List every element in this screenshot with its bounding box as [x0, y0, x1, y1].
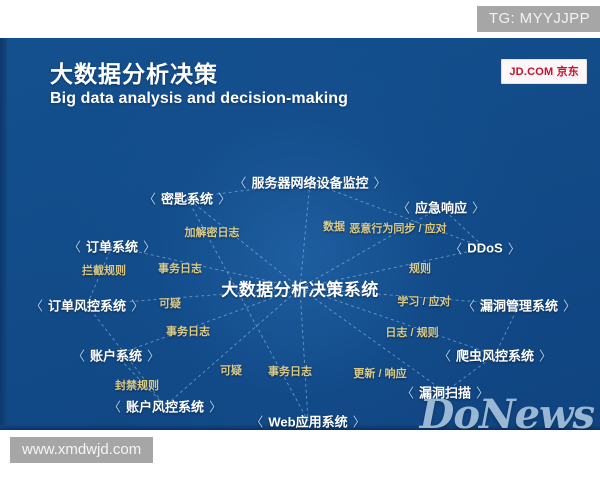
node-bracket-right-icon: 〉 [218, 189, 231, 208]
diagram-node-label: 大数据分析决策系统 [221, 276, 379, 301]
diagram-node-label: DDoS [467, 241, 502, 256]
diagram-node-vulnscan[interactable]: 〈漏洞扫描〉 [401, 383, 489, 402]
screenshot-root: TG: MYYJJPP 大数据分析决策 Big data analysis an… [0, 0, 600, 480]
node-bracket-right-icon: 〉 [143, 237, 156, 256]
diagram-edge-label: 加解密日志 [185, 224, 240, 240]
node-bracket-left-icon: 〈 [68, 237, 81, 256]
slide-canvas: 大数据分析决策 Big data analysis and decision-m… [0, 38, 600, 430]
diagram-node-ddos[interactable]: 〈DDoS〉 [449, 239, 520, 258]
node-bracket-right-icon: 〉 [353, 412, 366, 431]
diagram-node-label: 漏洞扫描 [419, 383, 471, 402]
diagram-node-label: 密匙系统 [161, 189, 213, 208]
diagram-edge-label: 更新 / 响应 [353, 365, 406, 381]
node-bracket-left-icon: 〈 [250, 412, 263, 431]
diagram-edge-label: 事务日志 [166, 323, 210, 339]
diagram-edge-label: 事务日志 [268, 363, 312, 379]
diagram-edge [165, 288, 300, 406]
telegram-watermark-badge: TG: MYYJJPP [477, 6, 600, 32]
diagram-edge-label: 可疑 [220, 362, 242, 378]
diagram-node-order[interactable]: 〈订单系统〉 [68, 237, 156, 256]
source-url-watermark: www.xmdwjd.com [10, 437, 153, 463]
diagram-edge [300, 182, 310, 288]
node-bracket-right-icon: 〉 [131, 296, 144, 315]
node-bracket-left-icon: 〈 [438, 346, 451, 365]
diagram-node-account[interactable]: 〈账户系统〉 [72, 346, 160, 365]
node-bracket-right-icon: 〉 [563, 296, 576, 315]
diagram-edge-label: 事务日志 [158, 260, 202, 276]
diagram-edge-label: 学习 / 应对 [397, 293, 450, 309]
node-bracket-right-icon: 〉 [147, 346, 160, 365]
diagram-node-label: 账户风控系统 [126, 397, 204, 416]
diagram-node-label: Web应用系统 [268, 412, 347, 431]
diagram-edge [300, 288, 308, 421]
node-bracket-left-icon: 〈 [462, 296, 475, 315]
diagram-node-label: 漏洞管理系统 [480, 296, 558, 315]
node-bracket-left-icon: 〈 [108, 397, 121, 416]
diagram-node-accrc[interactable]: 〈账户风控系统〉 [108, 397, 222, 416]
node-bracket-right-icon: 〉 [209, 397, 222, 416]
diagram-node-label: 账户系统 [90, 346, 142, 365]
diagram-edge [187, 198, 300, 288]
diagram-node-vulnmgr[interactable]: 〈漏洞管理系统〉 [462, 296, 576, 315]
node-bracket-left-icon: 〈 [233, 173, 246, 192]
diagram-edge-label: 恶意行为同步 / 应对 [349, 220, 446, 236]
diagram-node-web[interactable]: 〈Web应用系统〉 [250, 412, 365, 431]
node-bracket-right-icon: 〉 [508, 239, 521, 258]
diagram-node-label: 服务器网络设备监控 [251, 173, 368, 192]
diagram-node-crawler[interactable]: 〈爬虫风控系统〉 [438, 346, 552, 365]
diagram-node-label: 爬虫风控系统 [456, 346, 534, 365]
diagram-node-orderrc[interactable]: 〈订单风控系统〉 [30, 296, 144, 315]
node-bracket-left-icon: 〈 [449, 239, 462, 258]
diagram-node-label: 订单系统 [86, 237, 138, 256]
node-bracket-left-icon: 〈 [72, 346, 85, 365]
node-bracket-right-icon: 〉 [476, 383, 489, 402]
diagram-edge-label: 规则 [409, 260, 431, 276]
node-bracket-left-icon: 〈 [30, 296, 43, 315]
diagram-node-keysys[interactable]: 〈密匙系统〉 [143, 189, 231, 208]
node-bracket-left-icon: 〈 [401, 383, 414, 402]
diagram-node-label: 订单风控系统 [48, 296, 126, 315]
diagram-edge-label: 可疑 [159, 295, 181, 311]
diagram-edge-label: 拦截规则 [82, 262, 126, 278]
diagram-node-center[interactable]: 大数据分析决策系统 [221, 276, 379, 301]
diagram-node-emerg[interactable]: 〈应急响应〉 [397, 198, 485, 217]
node-bracket-right-icon: 〉 [374, 173, 387, 192]
node-bracket-left-icon: 〈 [397, 198, 410, 217]
diagram-edge-label: 日志 / 规则 [385, 324, 438, 340]
diagram-edge-label: 数据 [323, 218, 345, 234]
diagram-node-label: 应急响应 [415, 198, 467, 217]
diagram-node-server[interactable]: 〈服务器网络设备监控〉 [233, 173, 386, 192]
node-bracket-left-icon: 〈 [143, 189, 156, 208]
diagram-edge-label: 封禁规则 [115, 377, 159, 393]
node-bracket-right-icon: 〉 [539, 346, 552, 365]
node-bracket-right-icon: 〉 [472, 198, 485, 217]
